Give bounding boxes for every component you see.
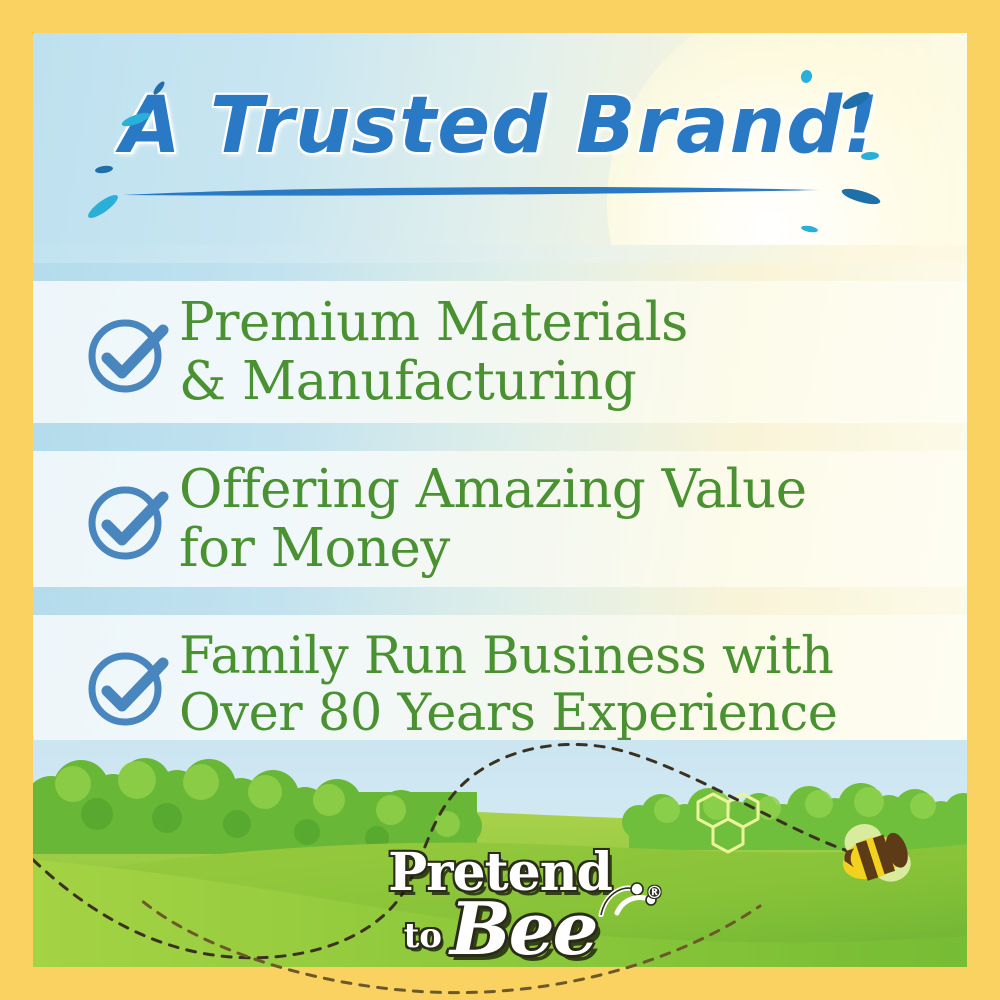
feature-text: Premium Materials & Manufacturing [179,293,967,412]
feature-list: Premium Materials & Manufacturing [33,245,967,740]
feature-text: Family Run Business with Over 80 Years E… [179,628,967,742]
feature-line: & Manufacturing [179,352,949,411]
feature-text: Offering Amazing Value for Money [179,460,967,579]
check-circle-icon [75,306,179,398]
row-separator [33,263,967,281]
headline-band: A Trusted Brand! [33,33,967,245]
poster: A Trusted Brand! [0,0,1000,1000]
landscape-scene: Pretend to Bee ® [33,740,967,967]
landscape-illustration [33,740,967,967]
page-title: A Trusted Brand! [33,81,967,171]
poster-inner: A Trusted Brand! [33,33,967,967]
feature-line: for Money [179,519,949,578]
feature-line: Premium Materials [179,293,949,352]
sparkle-icon [85,191,121,221]
sparkle-icon [840,186,881,208]
headline-wrap: A Trusted Brand! [33,33,967,245]
headline-underline-icon [121,185,821,198]
feature-line: Offering Amazing Value [179,460,949,519]
feature-line: Over 80 Years Experience [179,685,949,742]
feature-row: Premium Materials & Manufacturing [33,281,967,423]
row-separator [33,423,967,451]
feature-row: Offering Amazing Value for Money [33,451,967,587]
row-separator [33,587,967,615]
check-circle-icon [75,473,179,565]
feature-row: Family Run Business with Over 80 Years E… [33,615,967,755]
check-circle-icon [75,639,179,731]
sparkle-icon [801,225,819,234]
feature-line: Family Run Business with [179,628,949,685]
